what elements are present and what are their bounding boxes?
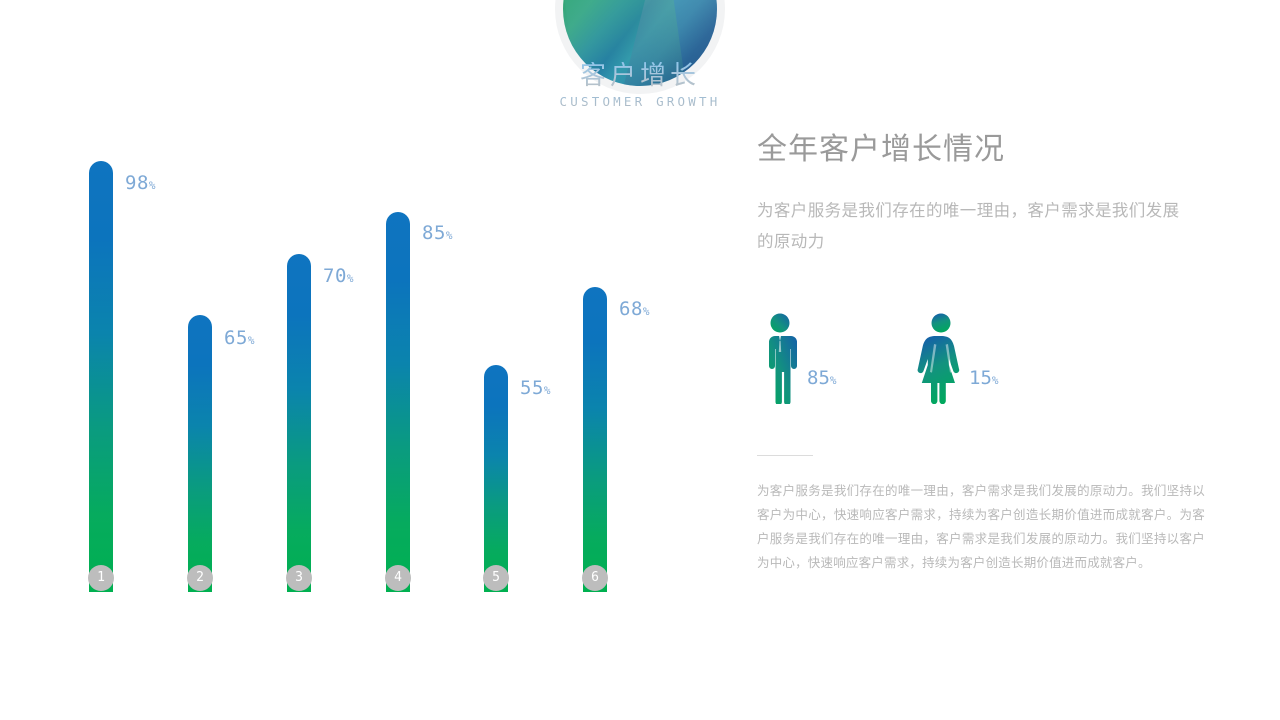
percent-sign: %: [643, 305, 650, 318]
gender-value-female: 15%: [969, 369, 999, 388]
bar-fill: [89, 161, 113, 592]
gender-value-number: 85: [807, 367, 830, 389]
bar-value-label: 68%: [619, 300, 650, 319]
percent-sign: %: [248, 334, 255, 347]
bar-index-badge: 4: [385, 565, 411, 591]
gender-stat-female[interactable]: 15%: [917, 312, 1117, 404]
bar-value-number: 65: [224, 327, 248, 349]
bar-value-label: 85%: [422, 224, 453, 243]
percent-sign: %: [830, 374, 837, 387]
gender-stat-male[interactable]: 85%: [757, 312, 937, 404]
bar-value-label: 98%: [125, 174, 156, 193]
section-divider: [757, 455, 813, 456]
bar-value-label: 55%: [520, 379, 551, 398]
bar-value-number: 98: [125, 172, 149, 194]
gender-stats: 85%: [757, 312, 1197, 404]
bar-chart: 1 98% 2 65% 3 70% 4 85%: [0, 0, 720, 720]
bar-value-number: 55: [520, 377, 544, 399]
bar-value-label: 70%: [323, 267, 354, 286]
slide-root: 客户增长 CUSTOMER GROWTH 1 98% 2 65% 3 70%: [0, 0, 1280, 720]
female-person-icon: [917, 312, 965, 409]
percent-sign: %: [544, 384, 551, 397]
bar-fill: [188, 315, 212, 592]
panel-body-text: 为客户服务是我们存在的唯一理由，客户需求是我们发展的原动力。我们坚持以客户为中心…: [757, 479, 1205, 575]
info-panel: 全年客户增长情况 为客户服务是我们存在的唯一理由，客户需求是我们发展的原动力: [757, 0, 1227, 720]
bar-fill: [583, 287, 607, 592]
percent-sign: %: [446, 229, 453, 242]
bar-index-badge: 1: [88, 565, 114, 591]
bar-value-number: 70: [323, 265, 347, 287]
bar-index-badge: 6: [582, 565, 608, 591]
male-person-icon: [757, 312, 803, 409]
gender-value-number: 15: [969, 367, 992, 389]
bar-index-badge: 2: [187, 565, 213, 591]
gender-value-male: 85%: [807, 369, 837, 388]
bar-value-number: 68: [619, 298, 643, 320]
bar-fill: [386, 212, 410, 592]
bar-fill: [287, 254, 311, 592]
panel-heading: 全年客户增长情况: [757, 132, 1005, 168]
percent-sign: %: [347, 272, 354, 285]
bar-fill: [484, 365, 508, 592]
panel-lead-text: 为客户服务是我们存在的唯一理由，客户需求是我们发展的原动力: [757, 196, 1189, 258]
bar-value-number: 85: [422, 222, 446, 244]
bar-index-badge: 5: [483, 565, 509, 591]
percent-sign: %: [992, 374, 999, 387]
bar-index-badge: 3: [286, 565, 312, 591]
percent-sign: %: [149, 179, 156, 192]
bar-value-label: 65%: [224, 329, 255, 348]
